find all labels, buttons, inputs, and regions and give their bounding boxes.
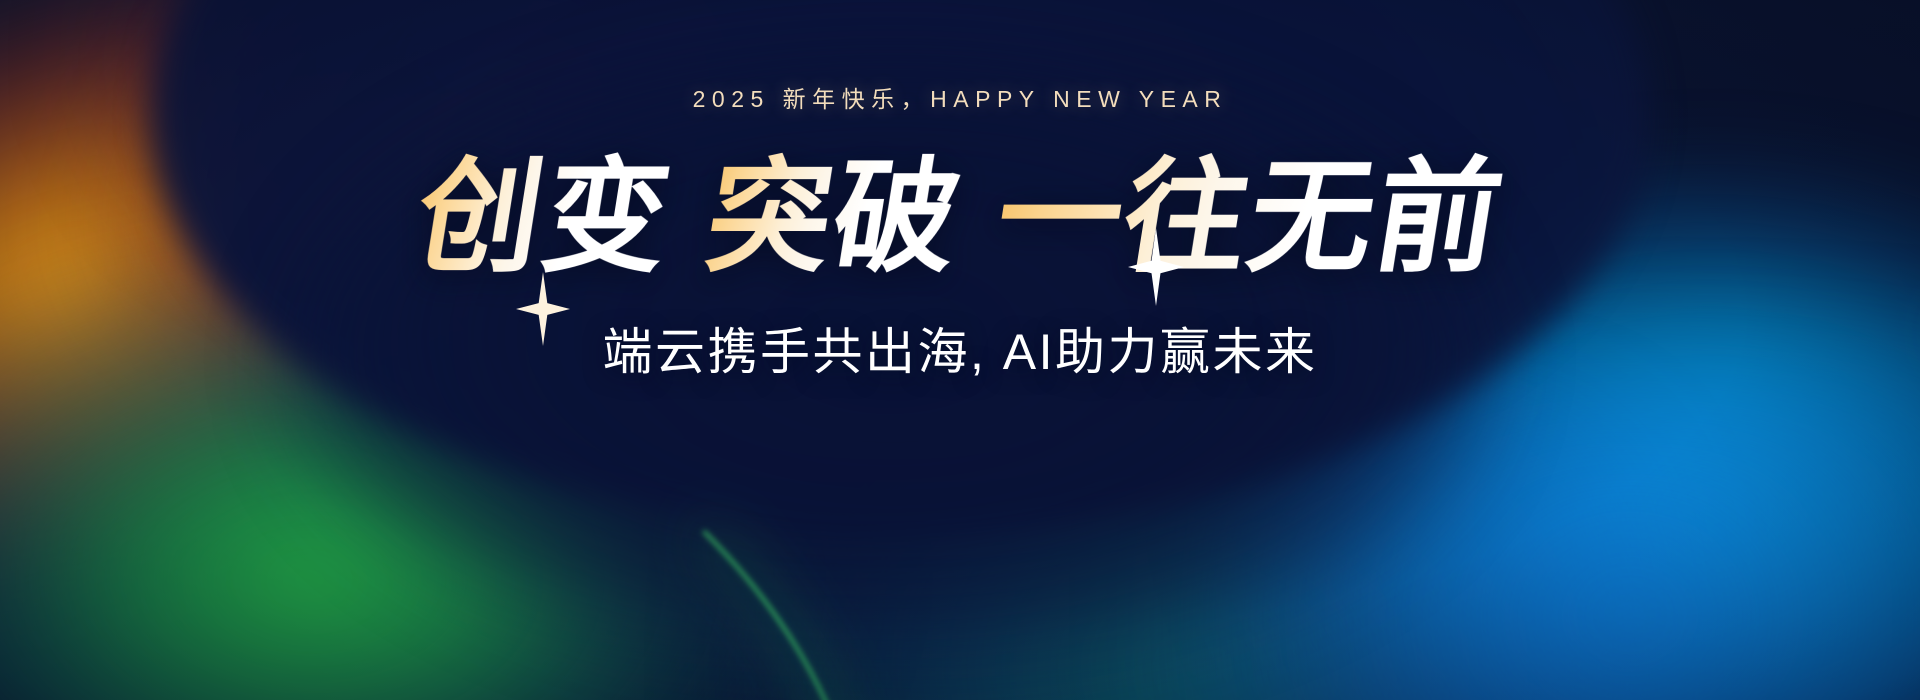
banner-tagline: 2025 新年快乐，HAPPY NEW YEAR (693, 80, 1228, 114)
headline-segment-chuangbian: 创变 (401, 152, 686, 286)
banner-subtitle: 端云携手共出海, AI助力赢未来 (602, 312, 1317, 384)
new-year-hero-banner: 2025 新年快乐，HAPPY NEW YEAR 创变 突破 一往无前 端云携手… (0, 0, 1920, 700)
banner-headline: 创变 突破 一往无前 (412, 152, 1508, 286)
headline-segment-tupo: 突破 (691, 152, 976, 286)
headline-segment-yiwangwuqian: 一往无前 (981, 152, 1518, 286)
banner-content: 2025 新年快乐，HAPPY NEW YEAR 创变 突破 一往无前 端云携手… (0, 0, 1920, 700)
